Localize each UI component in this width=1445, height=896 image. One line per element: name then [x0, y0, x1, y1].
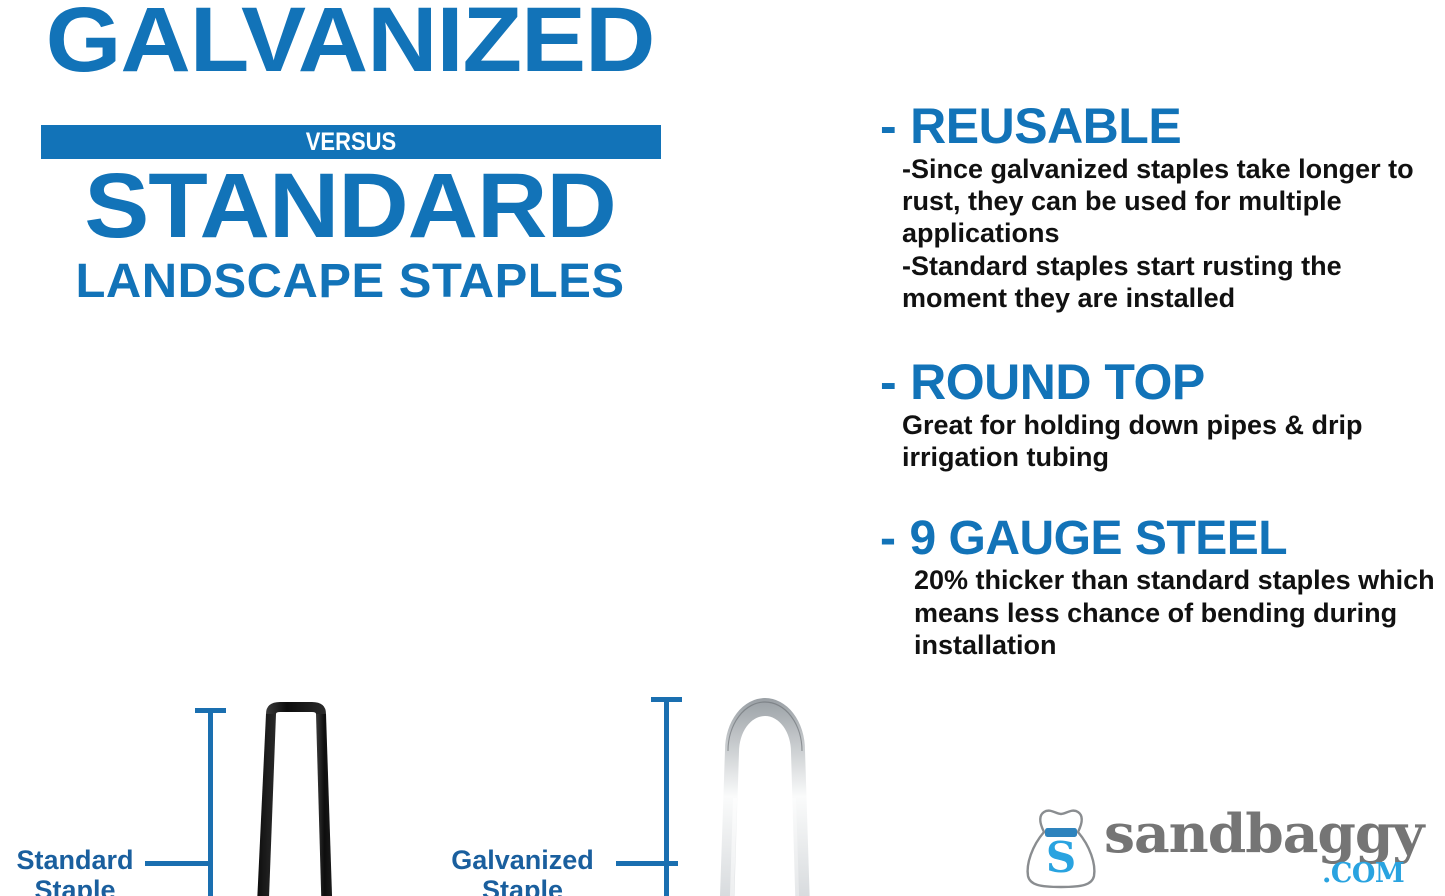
- galvanized-staple-label: Galvanized Staple: [425, 845, 620, 896]
- feature-reusable-title: REUSABLE: [910, 98, 1181, 154]
- versus-bar: VERSUS: [41, 125, 661, 159]
- standard-staple-figure: Standard Staple 6 in: [0, 340, 430, 896]
- infographic-page: GALVANIZED VERSUS STANDARD LANDSCAPE STA…: [0, 0, 1445, 896]
- galvanized-height-dimension-line: [664, 697, 669, 896]
- standard-leader-line: [145, 861, 213, 866]
- feature-round-top-body: Great for holding down pipes & drip irri…: [902, 409, 1440, 474]
- bullet-dash: -: [880, 354, 896, 410]
- logo-wordmark: sandbaggy: [1104, 808, 1423, 861]
- title-subtitle: LANDSCAPE STAPLES: [0, 258, 707, 306]
- galvanized-staple-drawing: [695, 688, 835, 896]
- sandbaggy-logo: S sandbaggy .COM: [1022, 802, 1440, 894]
- versus-label: VERSUS: [78, 125, 624, 159]
- svg-text:S: S: [1046, 833, 1076, 882]
- feature-round-top-heading: -ROUND TOP: [880, 356, 1440, 409]
- standard-staple-label: Standard Staple: [0, 845, 150, 896]
- feature-reusable-body: -Since galvanized staples take longer to…: [902, 153, 1440, 315]
- title-standard: STANDARD: [0, 160, 721, 252]
- feature-reusable-heading: -REUSABLE: [880, 100, 1440, 153]
- feature-9-gauge-steel-body: 20% thicker than standard staples which …: [914, 564, 1440, 661]
- sandbag-icon: S: [1022, 806, 1100, 890]
- feature-9-gauge-steel: -9 GAUGE STEEL 20% thicker than standard…: [880, 514, 1440, 662]
- feature-reusable: -REUSABLE -Since galvanized staples take…: [880, 100, 1440, 314]
- standard-height-top-cap: [195, 708, 226, 713]
- title-galvanized: GALVANIZED: [0, 0, 721, 86]
- feature-list: -REUSABLE -Since galvanized staples take…: [880, 100, 1440, 663]
- galvanized-height-top-cap: [651, 697, 682, 702]
- feature-round-top-title: ROUND TOP: [910, 354, 1205, 410]
- standard-height-dimension-line: [208, 708, 213, 896]
- logo-tld: .COM: [1322, 860, 1404, 887]
- feature-round-top: -ROUND TOP Great for holding down pipes …: [880, 356, 1440, 473]
- bullet-dash: -: [880, 98, 896, 154]
- feature-9-gauge-steel-heading: -9 GAUGE STEEL: [880, 514, 1440, 564]
- title-block: GALVANIZED VERSUS STANDARD LANDSCAPE STA…: [0, 0, 700, 330]
- standard-staple-drawing: [230, 700, 360, 896]
- bullet-dash: -: [880, 512, 895, 565]
- feature-9-gauge-steel-title: 9 GAUGE STEEL: [909, 512, 1287, 565]
- galvanized-staple-figure: Galvanized Staple 6 in: [420, 340, 880, 896]
